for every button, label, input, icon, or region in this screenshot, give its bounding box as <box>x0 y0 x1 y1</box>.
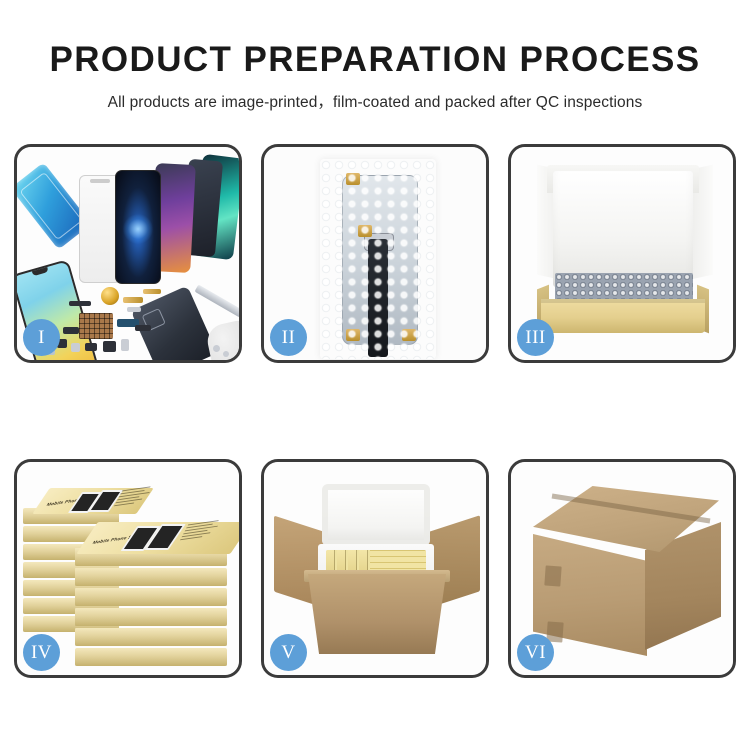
stacked-box <box>75 588 227 606</box>
process-grid: I II III <box>14 144 736 678</box>
flex-cable <box>368 239 388 357</box>
carton-tape-patch <box>544 565 561 586</box>
screw-part <box>223 351 229 357</box>
adhesive-tab <box>346 329 360 341</box>
process-step-panel-2[interactable]: II <box>261 144 489 363</box>
process-step-panel-1[interactable]: I <box>14 144 242 363</box>
component-chip <box>121 339 129 351</box>
adhesive-tab <box>402 329 416 341</box>
component-chip <box>85 343 97 351</box>
black-phone <box>115 170 161 284</box>
step-badge-4: IV <box>23 634 60 671</box>
process-step-panel-4[interactable]: Mobile Phone Spare Parts Mobile Phone Sp… <box>14 459 242 678</box>
step-badge-6: VI <box>517 634 554 671</box>
component-chip <box>71 343 80 352</box>
step-badge-1: I <box>23 319 60 356</box>
stacked-box <box>75 568 227 586</box>
step-badge-3: III <box>517 319 554 356</box>
step-badge-5: V <box>270 634 307 671</box>
adhesive-tab <box>346 173 360 185</box>
kraft-box-front <box>541 299 705 333</box>
page-title: PRODUCT PREPARATION PROCESS <box>0 0 750 77</box>
component-chip <box>103 341 116 352</box>
component-chip <box>63 327 79 334</box>
component-chip <box>135 325 151 331</box>
foam-lining <box>553 171 693 287</box>
component-chip <box>123 297 143 303</box>
stacked-box <box>75 628 227 646</box>
component-chip <box>127 307 141 312</box>
step-badge-2: II <box>270 319 307 356</box>
process-step-panel-3[interactable]: III <box>508 144 736 363</box>
component-chip <box>69 301 91 306</box>
page-header: PRODUCT PREPARATION PROCESS All products… <box>0 0 750 112</box>
foam-box-lid <box>322 484 430 546</box>
component-chip <box>143 289 161 294</box>
process-step-panel-6[interactable]: VI <box>508 459 736 678</box>
stacked-box <box>75 608 227 626</box>
carton-body <box>308 574 446 654</box>
page-subtitle: All products are image-printed，film-coat… <box>0 77 750 112</box>
screw-part <box>213 345 220 352</box>
stacked-box <box>75 648 227 666</box>
process-step-panel-5[interactable]: V <box>261 459 489 678</box>
ic-mesh-part <box>79 313 113 339</box>
camera-coil-part <box>101 287 119 305</box>
adhesive-tab <box>358 225 372 237</box>
